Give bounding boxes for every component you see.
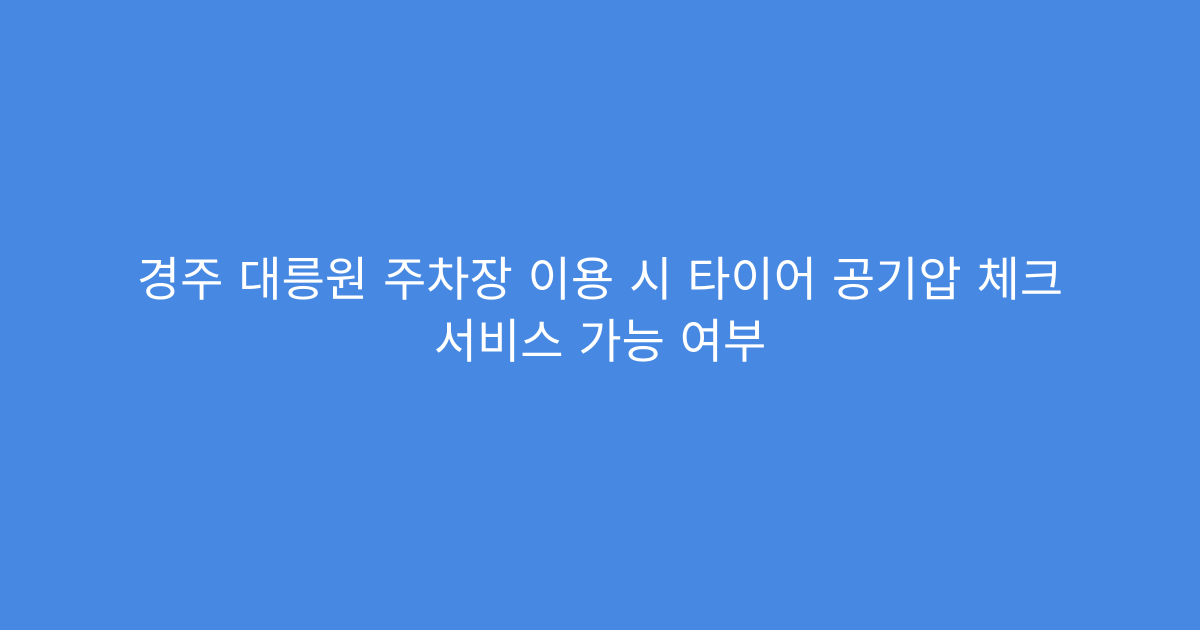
social-card-canvas: 경주 대릉원 주차장 이용 시 타이어 공기압 체크 서비스 가능 여부: [0, 0, 1200, 630]
page-title: 경주 대릉원 주차장 이용 시 타이어 공기압 체크 서비스 가능 여부: [90, 250, 1110, 374]
